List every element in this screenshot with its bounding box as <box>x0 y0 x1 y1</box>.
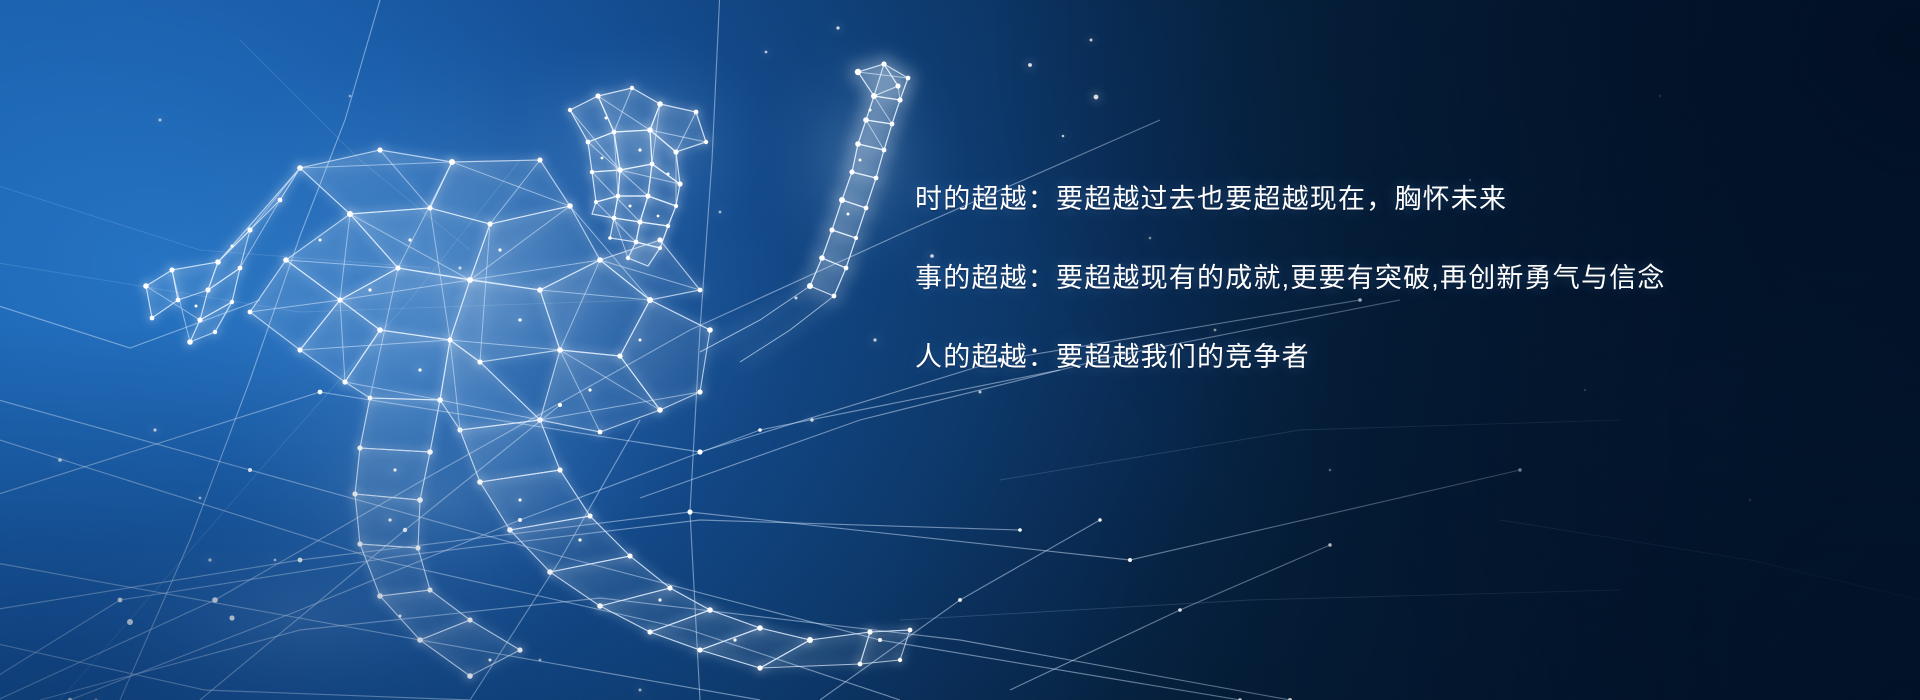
hero-banner: 时的超越：要超越过去也要超越现在，胸怀未来 事的超越：要超越现有的成就,更要有突… <box>0 0 1920 700</box>
slogan-line-people: 人的超越：要超越我们的竞争者 <box>915 344 1815 371</box>
slogan-text-block: 时的超越：要超越过去也要超越现在，胸怀未来 事的超越：要超越现有的成就,更要有突… <box>915 186 1815 371</box>
slogan-line-matters: 事的超越：要超越现有的成就,更要有突破,再创新勇气与信念 <box>915 265 1815 292</box>
slogan-line-time: 时的超越：要超越过去也要超越现在，胸怀未来 <box>915 186 1815 213</box>
